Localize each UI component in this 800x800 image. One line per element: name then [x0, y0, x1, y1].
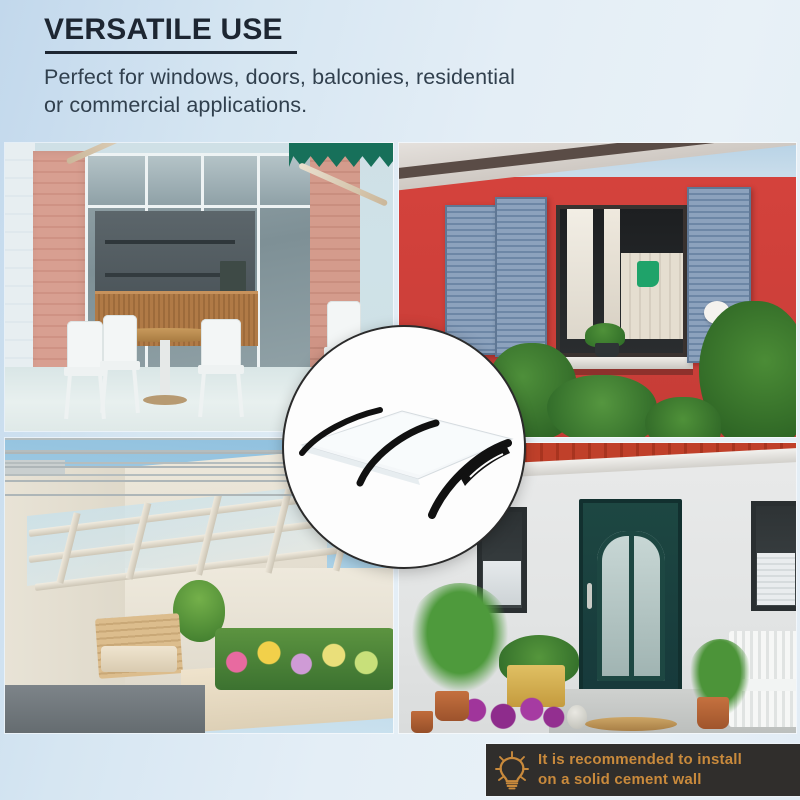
chair: [67, 321, 103, 421]
note-line-1: It is recommended to install: [538, 750, 742, 770]
installation-note-banner: It is recommended to install on a solid …: [486, 744, 800, 796]
lightbulb-icon: [486, 750, 538, 790]
door-mat: [585, 717, 677, 731]
purple-flowers: [457, 689, 567, 733]
door-handle: [587, 583, 592, 609]
product-feature-page: VERSATILE USE Perfect for windows, doors…: [0, 0, 800, 800]
door-canopy-illustration: [284, 327, 524, 567]
product-inset-circle: [282, 325, 526, 569]
page-subtitle: Perfect for windows, doors, balconies, r…: [44, 63, 704, 120]
subtitle-line-1: Perfect for windows, doors, balconies, r…: [44, 63, 704, 92]
chair: [201, 319, 241, 421]
title-underline-rule: [45, 51, 297, 54]
page-title: VERSATILE USE: [44, 14, 283, 51]
subtitle-line-2: or commercial applications.: [44, 91, 704, 120]
flower-planters: [215, 628, 393, 690]
chair: [103, 315, 137, 413]
header: VERSATILE USE Perfect for windows, doors…: [44, 14, 744, 120]
installation-note-text: It is recommended to install on a solid …: [538, 750, 750, 791]
note-line-2: on a solid cement wall: [538, 770, 742, 790]
potted-palm: [405, 583, 515, 701]
